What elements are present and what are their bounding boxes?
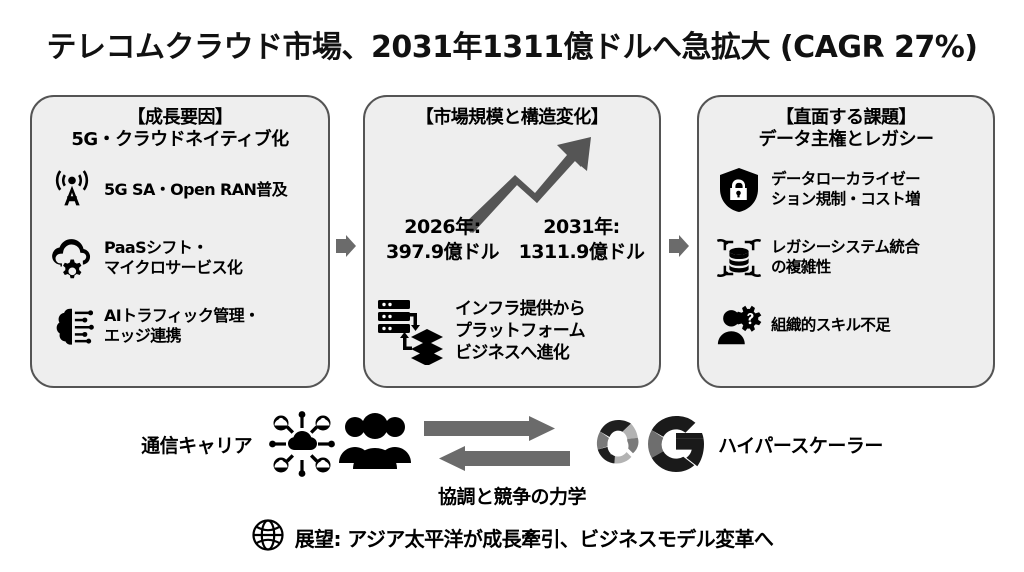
- page-title: テレコムクラウド市場、2031年1311億ドルへ急拡大 (CAGR 27%): [0, 22, 1024, 66]
- card-growth-heading-line1: 【成長要因】: [128, 107, 233, 128]
- list-item: 組織的スキル不足: [713, 295, 989, 357]
- connector-market-to-risks: [665, 233, 693, 259]
- card-market-heading-line1: 【市場規模と構造変化】: [416, 107, 609, 128]
- figure-2031-year: 2031年:: [512, 215, 651, 240]
- bidirectional-arrows-icon: [422, 416, 572, 478]
- network-cloud-users-icon: [266, 408, 338, 480]
- ai-brain-circuit-icon: [46, 300, 98, 352]
- card-challenges-heading: 【直面する課題】 データ主権とレガシー: [699, 97, 993, 151]
- list-item-label: PaaSシフト・ マイクロサービス化: [104, 238, 242, 278]
- card-growth-heading: 【成長要因】 5G・クラウドネイティブ化: [32, 97, 328, 151]
- exchange-arrows: [412, 404, 588, 484]
- market-evolution-label: インフラ提供から プラットフォーム ビジネスへ進化: [455, 298, 585, 364]
- card-market-heading: 【市場規模と構造変化】: [365, 97, 659, 129]
- list-item: PaaSシフト・ マイクロサービス化: [46, 227, 324, 289]
- figure-2026: 2026年: 397.9億ドル: [373, 215, 512, 264]
- server-to-layers-icon: [375, 293, 447, 369]
- market-evolution: インフラ提供から プラットフォーム ビジネスへ進化: [375, 293, 585, 369]
- person-question-gear-icon: [713, 300, 765, 352]
- figure-2031-value: 1311.9億ドル: [512, 240, 651, 265]
- card-growth-heading-line2: 5G・クラウドネイティブ化: [32, 129, 328, 151]
- connector-growth-to-market: [332, 233, 360, 259]
- telecom-carrier-label: 通信キャリア: [141, 431, 252, 458]
- market-figures: 2026年: 397.9億ドル 2031年: 1311.9億ドル: [365, 215, 659, 264]
- list-item-label: レガシーシステム統合 の複雑性: [771, 238, 919, 277]
- figure-2031: 2031年: 1311.9億ドル: [512, 215, 651, 264]
- cloud-gear-icon: [46, 232, 98, 284]
- list-item-label: AIトラフィック管理・ エッジ連携: [104, 306, 259, 346]
- figure-2026-value: 397.9億ドル: [373, 240, 512, 265]
- legacy-database-icon: [713, 232, 765, 284]
- list-item-label: データローカライゼー ション規制・コスト増: [771, 170, 920, 209]
- card-growth-items: 5G SA・Open RAN普及 PaaSシフト・ マイクロサービス化: [32, 159, 328, 357]
- shield-lock-icon: [713, 164, 765, 216]
- outlook-footer-label: 展望: アジア太平洋が成長牽引、ビジネスモデル変革へ: [295, 523, 774, 552]
- figure-2026-year: 2026年:: [373, 215, 512, 240]
- list-item: 5G SA・Open RAN普及: [46, 159, 324, 221]
- globe-icon: [251, 518, 285, 556]
- list-item: レガシーシステム統合 の複雑性: [713, 227, 989, 289]
- hyperscaler-label: ハイパースケーラー: [718, 431, 883, 458]
- right-triangle-arrow-icon: [665, 233, 693, 259]
- list-item: データローカライゼー ション規制・コスト増: [713, 159, 989, 221]
- card-challenges-items: データローカライゼー ション規制・コスト増: [699, 159, 993, 357]
- list-item: AIトラフィック管理・ エッジ連携: [46, 295, 324, 357]
- card-challenges: 【直面する課題】 データ主権とレガシー データローカライゼー ション規制・コスト…: [697, 95, 995, 388]
- ecosystem-band: 通信キャリア: [0, 404, 1024, 484]
- card-market-size: 【市場規模と構造変化】 2026年: 397.9億ドル 2031年: 1311.…: [363, 95, 661, 388]
- list-item-label: 組織的スキル不足: [771, 316, 890, 336]
- card-challenges-heading-line2: データ主権とレガシー: [699, 129, 993, 151]
- card-challenges-heading-line1: 【直面する課題】: [776, 107, 916, 128]
- google-cloud-icon: [588, 416, 648, 472]
- cell-tower-icon: [46, 164, 98, 216]
- right-triangle-arrow-icon: [332, 233, 360, 259]
- outlook-footer: 展望: アジア太平洋が成長牽引、ビジネスモデル変革へ: [0, 518, 1024, 556]
- people-group-icon: [338, 413, 412, 475]
- google-g-icon: [648, 416, 704, 472]
- card-growth-drivers: 【成長要因】 5G・クラウドネイティブ化 5G SA・Open R: [30, 95, 330, 388]
- ecosystem-caption: 協調と競争の力学: [0, 482, 1024, 509]
- list-item-label: 5G SA・Open RAN普及: [104, 180, 287, 200]
